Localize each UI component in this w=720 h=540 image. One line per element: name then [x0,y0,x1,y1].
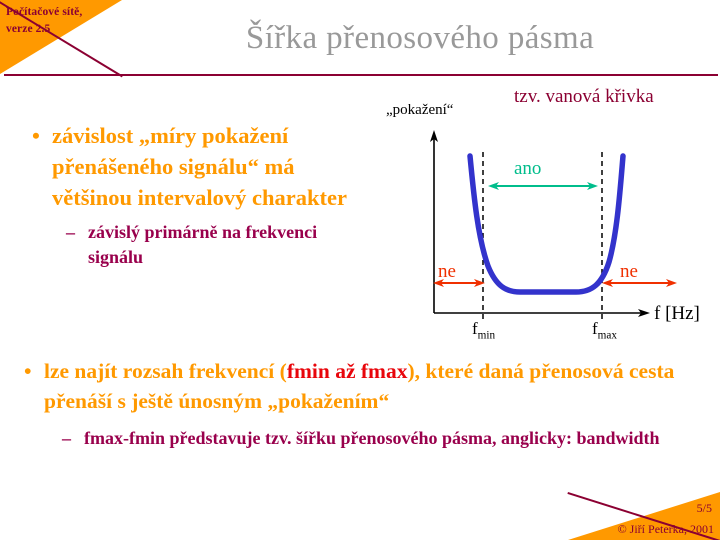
left-content-block: • závislost „míry pokažení přenášeného s… [26,120,371,270]
bullet-marker-icon: • [24,356,32,386]
sub-bullet-item-1-text: závislý primárně na frekvenci signálu [88,222,317,267]
bathtub-curve-path [470,156,623,292]
bullet-item-2: •lze najít rozsah frekvencí (fmin až fma… [18,356,708,416]
bullet-item-2-text-part1: lze najít rozsah frekvencí ( [44,359,287,383]
fmax-tick-label: fmax [592,319,617,341]
slide: Počítačové sítě, verze 2.5 Šířka přenoso… [0,0,720,540]
fmin-tick-label: fmin [472,319,495,341]
deck-subtitle-line2: verze 2.5 [6,21,82,38]
bathtub-curve-diagram: „pokažení“ tzv. vanová křivka ano ne ne … [380,88,716,348]
copyright-notice: © Jiří Peterka, 2001 [618,522,714,537]
sub-bullet-item-1: – závislý primárně na frekvenci signálu [26,220,371,270]
deck-subtitle: Počítačové sítě, verze 2.5 [6,4,82,37]
page-number: 5/5 [697,501,712,516]
footer-banner: 5/5 © Jiří Peterka, 2001 [568,492,720,540]
bottom-content-block: •lze najít rozsah frekvencí (fmin až fma… [18,356,708,451]
x-axis-label: f [Hz] [654,303,700,325]
y-axis-label: „pokažení“ [386,102,453,119]
fmin-subscript: min [478,329,495,341]
sub-bullet-marker-icon: – [66,220,75,245]
bullet-item-1-text: závislost „míry pokažení přenášeného sig… [52,123,347,210]
bullet-marker-icon: • [32,120,40,151]
ne-right-band-label: ne [620,261,638,283]
bullet-item-1: • závislost „míry pokažení přenášeného s… [26,120,371,213]
sub-bullet-item-2: – fmax-fmin představuje tzv. šířku přeno… [18,426,708,451]
page-title: Šířka přenosového pásma [130,20,710,57]
corner-banner: Počítačové sítě, verze 2.5 [0,0,122,74]
ano-band-label: ano [514,158,541,180]
bullet-item-2-highlight: fmin až fmax [287,359,408,383]
ne-left-band-label: ne [438,261,456,283]
fmax-subscript: max [598,329,617,341]
title-divider [4,74,718,76]
deck-subtitle-line1: Počítačové sítě, [6,4,82,21]
sub-bullet-item-2-text: fmax-fmin představuje tzv. šířku přenoso… [84,428,660,448]
sub-bullet-marker-icon: – [62,426,71,451]
curve-caption: tzv. vanová křivka [514,86,654,108]
